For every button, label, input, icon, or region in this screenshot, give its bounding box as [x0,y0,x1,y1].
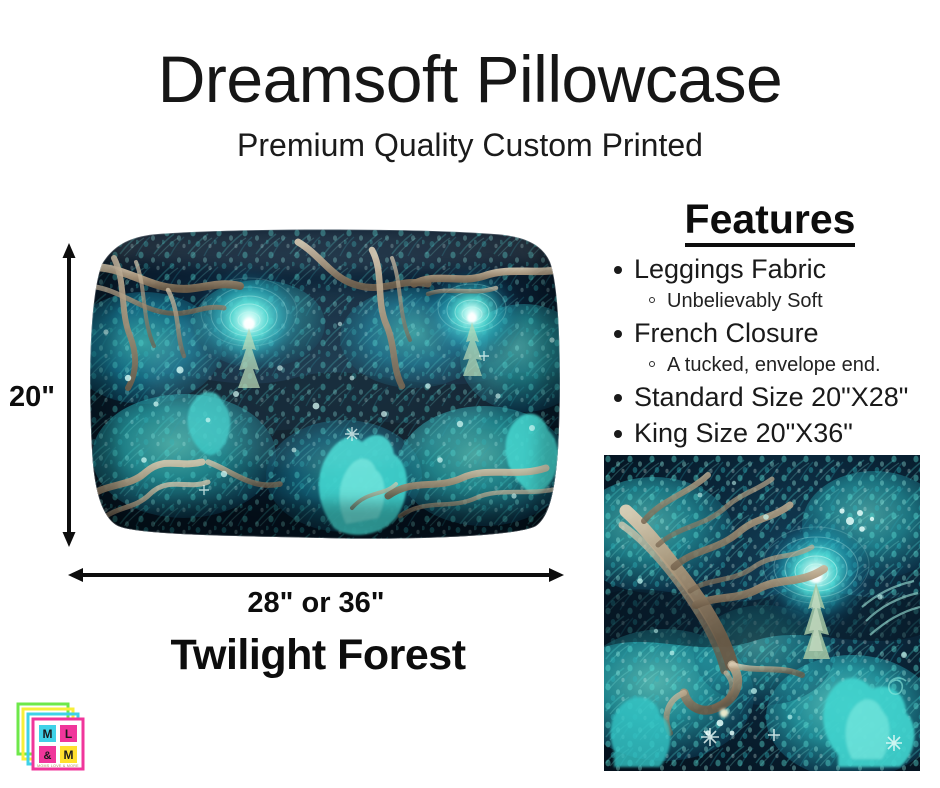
features-heading: Features [600,196,940,247]
bullet-open-icon [649,297,655,303]
feature-item: Standard Size 20"X28" [600,381,940,414]
bullet-icon [614,330,622,338]
feature-sublist: Unbelievably Soft [634,288,940,314]
fabric-swatch-illustration [604,455,920,771]
logo-letter-m1: M [43,727,53,741]
brand-logo[interactable]: M L & M MOMS LOVE & MORE [14,700,92,776]
features-list: Leggings Fabric Unbelievably Soft French… [600,253,940,450]
page-subtitle: Premium Quality Custom Printed [0,126,940,164]
feature-label: French Closure [634,318,819,348]
feature-sublist: A tucked, envelope end. [634,352,940,378]
fabric-swatch-closeup [604,455,920,771]
feature-item: Leggings Fabric Unbelievably Soft [600,253,940,314]
pattern-name-label: Twilight Forest [18,628,618,682]
logo-letter-m2: M [64,748,74,762]
feature-label: Standard Size 20"X28" [634,382,908,412]
feature-label: King Size 20"X36" [634,418,853,448]
feature-label: Leggings Fabric [634,254,826,284]
logo-caption: MOMS LOVE & MORE [37,764,79,768]
double-headed-horizontal-arrow-icon [68,562,564,588]
double-headed-vertical-arrow-icon [62,243,76,547]
dimension-label-width: 28" or 36" [68,586,564,620]
bullet-icon [614,266,622,274]
pillow-product-image [84,228,568,540]
bullet-icon [614,430,622,438]
bullet-icon [614,394,622,402]
feature-subitem: Unbelievably Soft [634,288,940,314]
features-section: Features Leggings Fabric Unbelievably So… [600,196,940,450]
logo-letter-l: L [65,727,72,741]
pillow-illustration [84,228,568,540]
feature-subitem: A tucked, envelope end. [634,352,940,378]
feature-sublabel: A tucked, envelope end. [667,354,881,376]
logo-letter-amp: & [44,750,52,762]
feature-sublabel: Unbelievably Soft [667,290,823,312]
product-listing-graphic: Dreamsoft Pillowcase Premium Quality Cus… [0,0,940,788]
dimension-label-height: 20" [6,381,58,413]
bullet-open-icon [649,361,655,367]
features-heading-text: Features [685,196,856,247]
feature-item: French Closure A tucked, envelope end. [600,317,940,378]
page-title: Dreamsoft Pillowcase [0,42,940,116]
feature-item: King Size 20"X36" [600,417,940,450]
